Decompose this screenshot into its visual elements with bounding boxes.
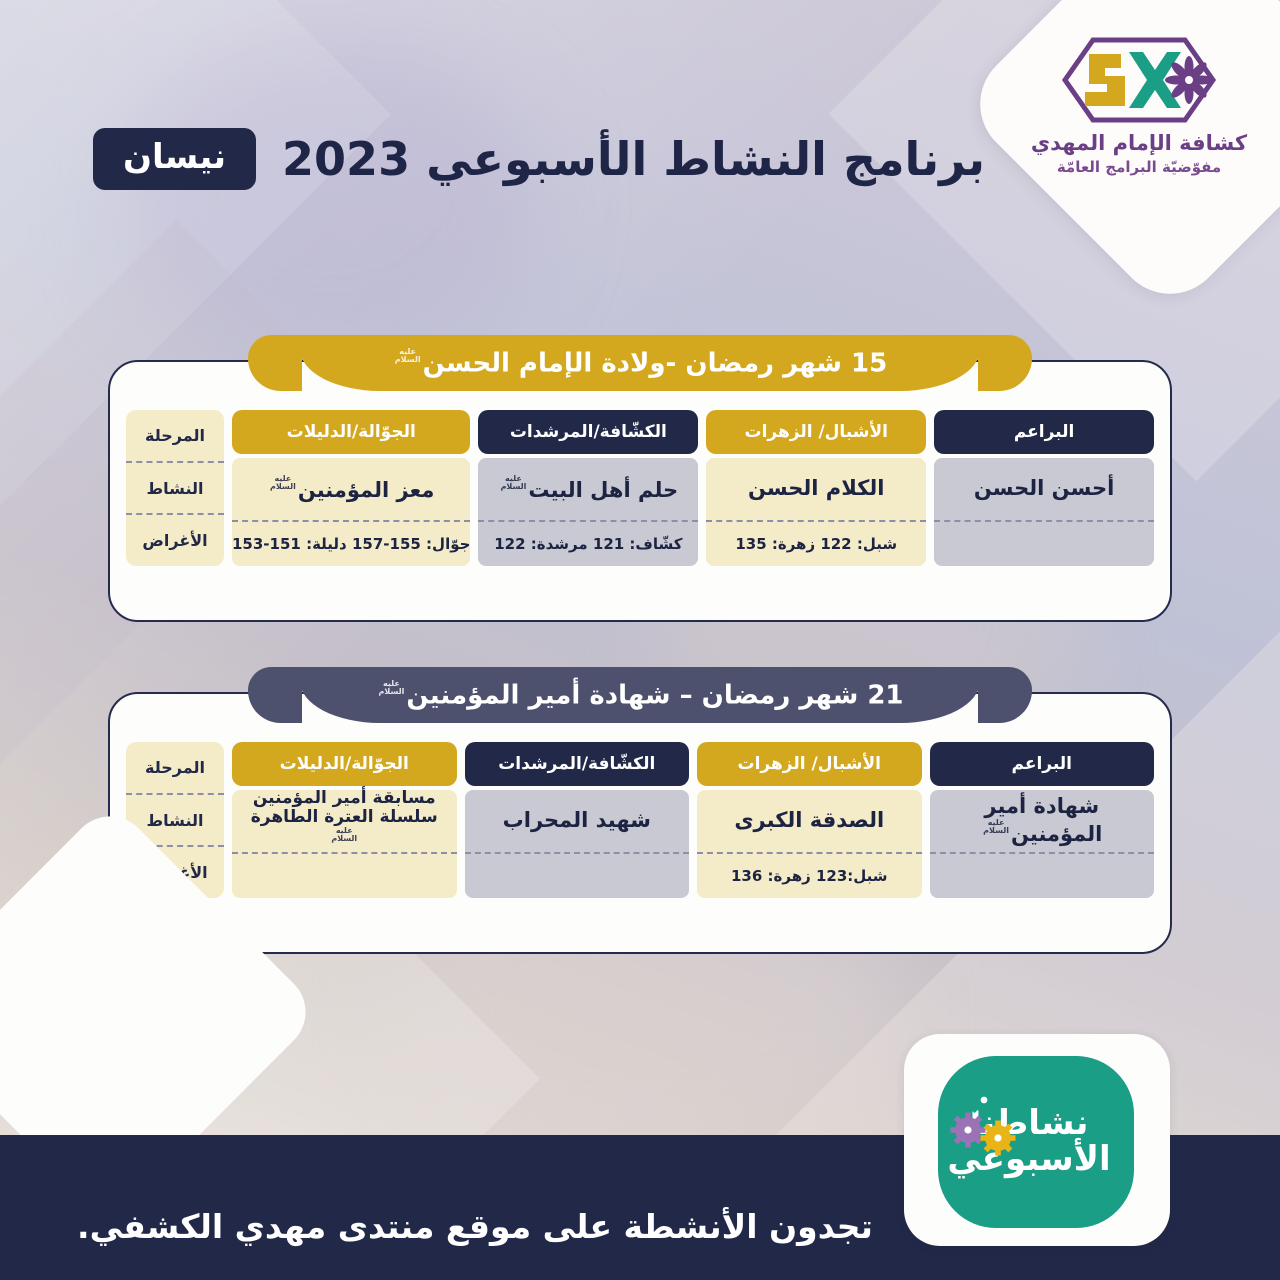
- brand-subtitle: مفوّضيّة البرامج العامّة: [1057, 158, 1221, 176]
- weekly-activity-card: نشاطنا الأسبوعي: [904, 1034, 1170, 1246]
- activity-cell: مسابقة أمير المؤمنينسلسلة العترة الطاهرة…: [232, 790, 457, 852]
- program-column: الجوّالة/الدليلاتمسابقة أمير المؤمنينسلس…: [232, 742, 457, 898]
- column-header: الجوّالة/الدليلات: [232, 410, 470, 454]
- program-column: الأشبال/ الزهراتالصدقة الكبرىشبل:123 زهر…: [697, 742, 922, 898]
- purposes-cell: [232, 852, 457, 898]
- month-badge: نيسان: [93, 128, 256, 190]
- page-header: برنامج النشاط الأسبوعي 2023 نيسان: [93, 128, 985, 190]
- column-header: الأشبال/ الزهرات: [706, 410, 926, 454]
- activity-cell: الكلام الحسن: [706, 458, 926, 520]
- program-column: الأشبال/ الزهراتالكلام الحسنشبل: 122 زهر…: [706, 410, 926, 566]
- honorific-mark: عليهالسلام: [983, 819, 1009, 835]
- row-label-stage: المرحلة: [126, 410, 224, 461]
- purposes-cell: [465, 852, 690, 898]
- purposes-cell: شبل: 122 زهرة: 135: [706, 520, 926, 566]
- row-label-activity: النشاط: [126, 461, 224, 514]
- purposes-cell: [934, 520, 1154, 566]
- program-columns: البراعمأحسن الحسنالأشبال/ الزهراتالكلام …: [232, 410, 1154, 566]
- column-header: الكشّافة/المرشدات: [478, 410, 698, 454]
- program-column: الكشّافة/المرشداتحلم أهل البيتعليهالسلام…: [478, 410, 698, 566]
- activity-cell: شهادة أمير المؤمنينعليهالسلام: [930, 790, 1155, 852]
- program-card: 15 شهر رمضان -ولادة الإمام الحسنعليهالسل…: [108, 360, 1172, 622]
- card-banner-text: 21 شهر رمضان – شهادة أمير المؤمنينعليهال…: [377, 680, 904, 711]
- poster-canvas: كشافة الإمام المهدي مفوّضيّة البرامج الع…: [0, 0, 1280, 1280]
- activity-cell: حلم أهل البيتعليهالسلام: [478, 458, 698, 520]
- column-header: الكشّافة/المرشدات: [465, 742, 690, 786]
- program-card: 21 شهر رمضان – شهادة أمير المؤمنينعليهال…: [108, 692, 1172, 954]
- brand-title: كشافة الإمام المهدي: [1031, 131, 1247, 155]
- activity-cell: شهيد المحراب: [465, 790, 690, 852]
- weekly-activity-badge: نشاطنا الأسبوعي: [938, 1056, 1134, 1228]
- activity-cell: الصدقة الكبرى: [697, 790, 922, 852]
- row-label-stage: المرحلة: [126, 742, 224, 793]
- row-label-purposes: الأغراض: [126, 513, 224, 566]
- program-columns: البراعمشهادة أمير المؤمنينعليهالسلامالأش…: [232, 742, 1154, 898]
- card-banner: 21 شهر رمضان – شهادة أمير المؤمنينعليهال…: [300, 667, 980, 723]
- honorific-mark: عليهالسلام: [331, 827, 357, 843]
- page-title: برنامج النشاط الأسبوعي 2023: [282, 132, 985, 186]
- program-column: الكشّافة/المرشداتشهيد المحراب: [465, 742, 690, 898]
- card-banner-text: 15 شهر رمضان -ولادة الإمام الحسنعليهالسل…: [393, 348, 887, 379]
- column-header: الأشبال/ الزهرات: [697, 742, 922, 786]
- card-banner: 15 شهر رمضان -ولادة الإمام الحسنعليهالسل…: [300, 335, 980, 391]
- program-table: البراعمأحسن الحسنالأشبال/ الزهراتالكلام …: [126, 410, 1154, 566]
- activity-cell: أحسن الحسن: [934, 458, 1154, 520]
- program-column: الجوّالة/الدليلاتمعز المؤمنينعليهالسلامج…: [232, 410, 470, 566]
- program-column: البراعمأحسن الحسن: [934, 410, 1154, 566]
- column-header: البراعم: [930, 742, 1155, 786]
- brand-logo-block: كشافة الإمام المهدي مفوّضيّة البرامج الع…: [1016, 18, 1262, 238]
- activity-cell: معز المؤمنينعليهالسلام: [232, 458, 470, 520]
- program-column: البراعمشهادة أمير المؤمنينعليهالسلام: [930, 742, 1155, 898]
- purposes-cell: شبل:123 زهرة: 136: [697, 852, 922, 898]
- column-header: الجوّالة/الدليلات: [232, 742, 457, 786]
- purposes-cell: [930, 852, 1155, 898]
- scout-hexagon-logo-icon: [1059, 36, 1219, 124]
- honorific-mark: عليهالسلام: [501, 475, 527, 491]
- column-header: البراعم: [934, 410, 1154, 454]
- program-table: البراعمشهادة أمير المؤمنينعليهالسلامالأش…: [126, 742, 1154, 898]
- honorific-mark: عليهالسلام: [270, 475, 296, 491]
- gear-flowers-icon: [950, 1086, 1020, 1164]
- purposes-cell: جوّال: 155-157 دليلة: 151-153: [232, 520, 470, 566]
- row-label-column: المرحلة النشاط الأغراض: [126, 410, 224, 566]
- background-blob: [120, 40, 540, 370]
- purposes-cell: كشّاف: 121 مرشدة: 122: [478, 520, 698, 566]
